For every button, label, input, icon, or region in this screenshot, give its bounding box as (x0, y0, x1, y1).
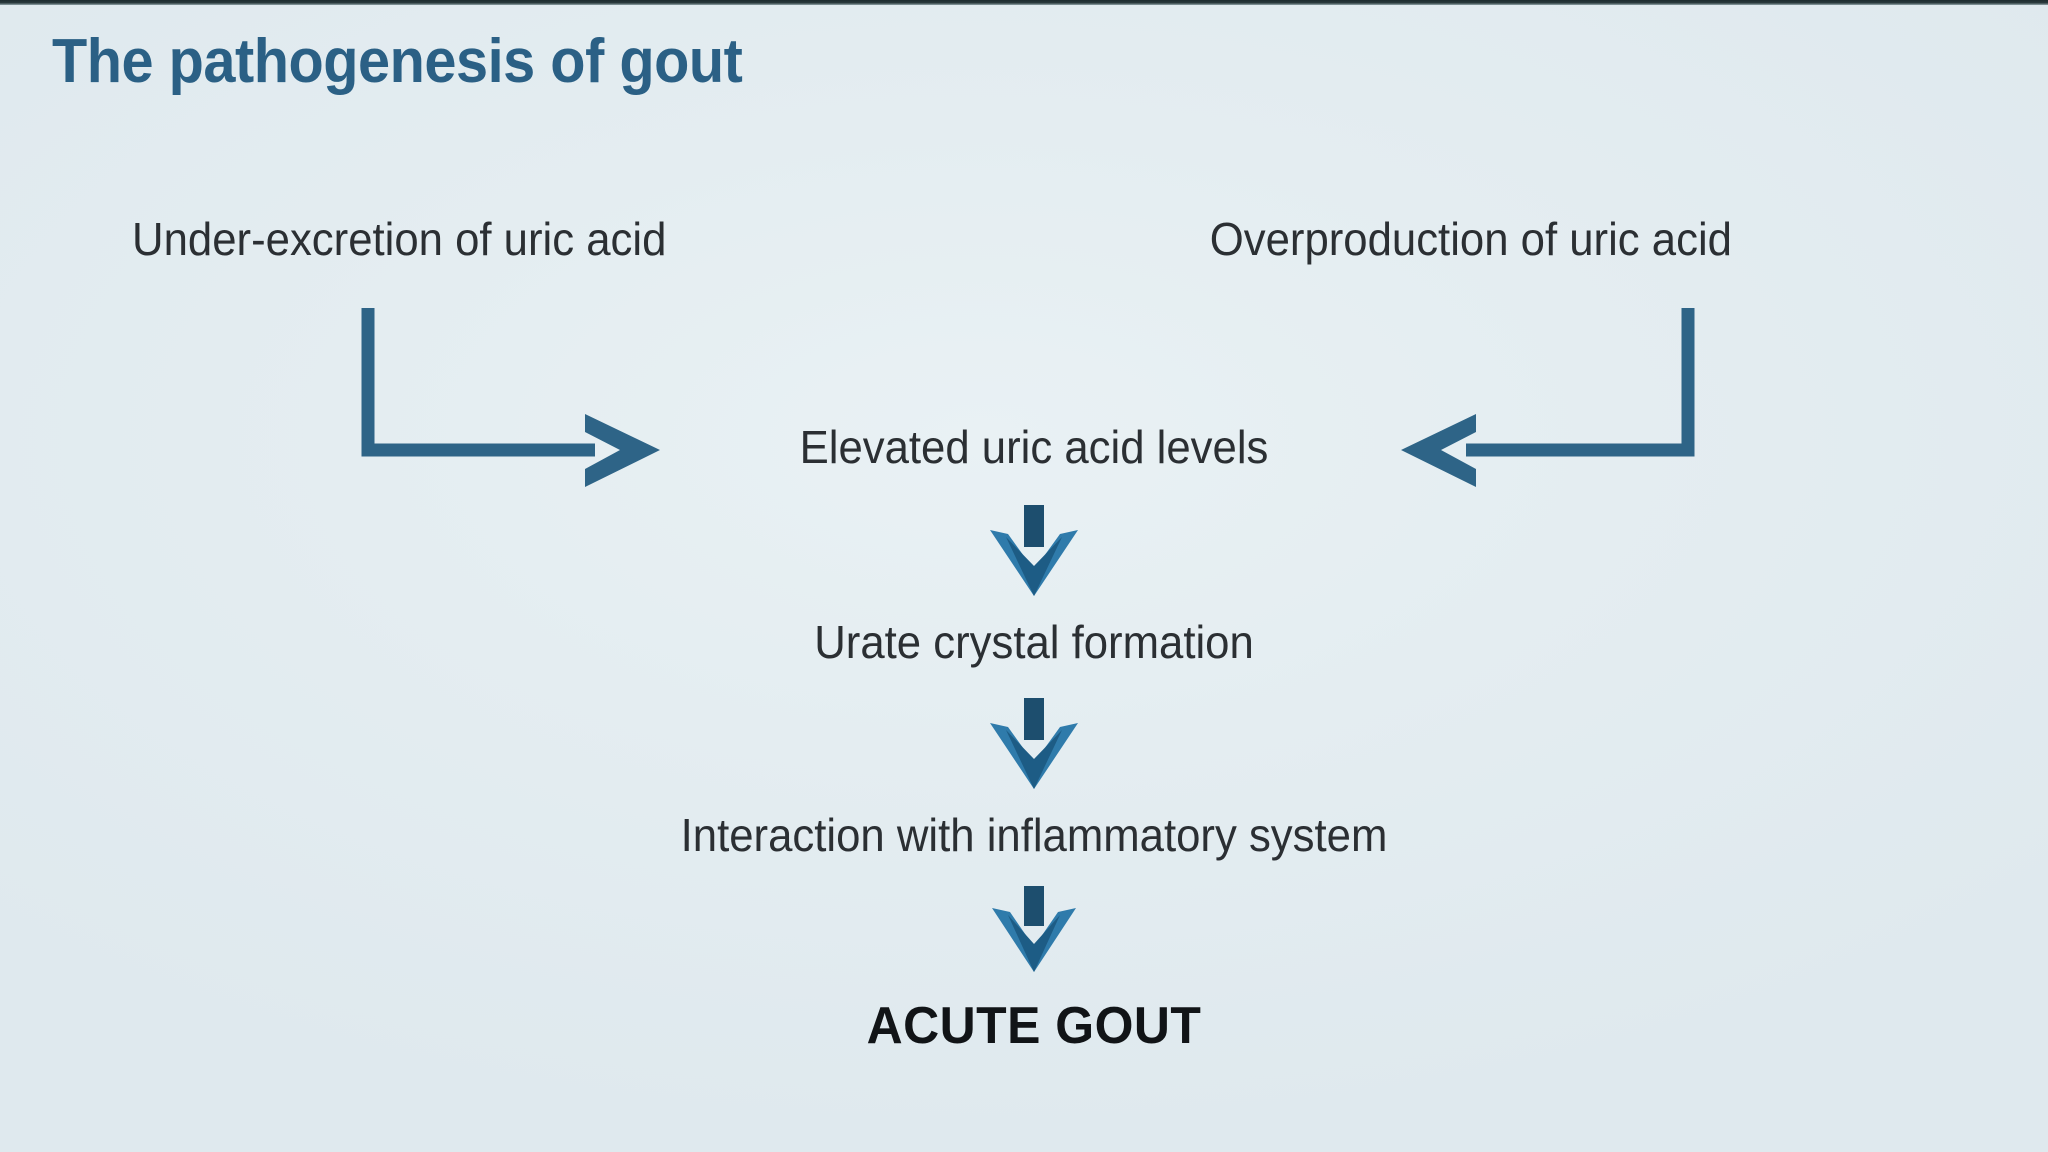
down-arrow-inflammation-to-outcome (992, 886, 1076, 972)
down-arrow-elevated-to-crystal (990, 505, 1078, 596)
page-title: The pathogenesis of gout (52, 26, 742, 97)
down-arrow-crystal-to-inflammation (990, 698, 1078, 789)
node-under-excretion: Under-excretion of uric acid (132, 212, 666, 266)
node-acute-gout: ACUTE GOUT (867, 996, 1202, 1056)
connector-layer (0, 0, 2048, 1152)
elbow-connector-left (368, 308, 660, 487)
node-urate-crystal-formation: Urate crystal formation (814, 615, 1254, 669)
diagram-canvas: The pathogenesis of gout (0, 0, 2048, 1152)
top-edge-band (0, 0, 2048, 5)
elbow-connector-right (1401, 308, 1688, 487)
node-elevated-uric-acid: Elevated uric acid levels (800, 420, 1269, 474)
node-inflammatory-interaction: Interaction with inflammatory system (681, 808, 1388, 862)
node-overproduction: Overproduction of uric acid (1210, 212, 1732, 266)
